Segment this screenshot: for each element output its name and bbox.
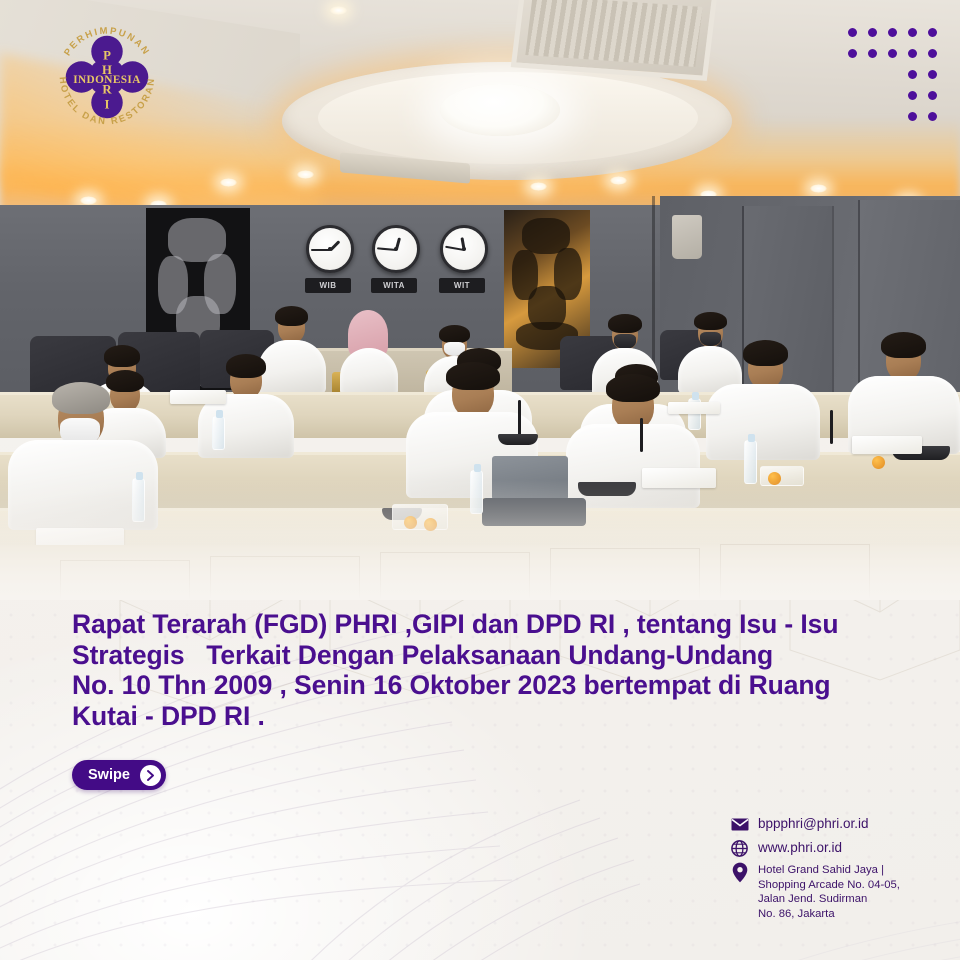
clock-label-wita: WITA [371, 278, 417, 293]
logo-letter-p: P [103, 48, 111, 62]
globe-icon [730, 839, 749, 858]
poster-canvas: WIB WITA WIT [0, 0, 960, 960]
contact-email: bppphri@phri.or.id [758, 815, 869, 832]
envelope-icon [730, 815, 749, 834]
contact-website-row[interactable]: www.phri.or.id [730, 839, 950, 858]
wall-clock-wib [306, 225, 354, 273]
water-bottle [744, 440, 757, 484]
wall-clock-wita [372, 225, 420, 273]
swipe-label: Swipe [88, 767, 130, 783]
event-title: Rapat Terarah (FGD) PHRI ,GIPI dan DPD R… [72, 609, 902, 731]
clock-label-wit: WIT [439, 278, 485, 293]
map-pin-icon [730, 863, 749, 882]
contact-address-row: Hotel Grand Sahid Jaya | Shopping Arcade… [730, 863, 950, 921]
contact-address: Hotel Grand Sahid Jaya | Shopping Arcade… [758, 863, 900, 921]
logo-letter-i: I [105, 97, 110, 111]
contact-website: www.phri.or.id [758, 839, 842, 856]
contact-block: bppphri@phri.or.id www.phri.or.id [730, 815, 950, 926]
wall-speaker [672, 215, 702, 259]
contact-email-row[interactable]: bppphri@phri.or.id [730, 815, 950, 834]
water-bottle [212, 416, 225, 450]
dot-grid-decoration [842, 22, 942, 127]
wall-clock-wit [440, 225, 488, 273]
clock-label-wib: WIB [305, 278, 351, 293]
logo-indonesia: INDONESIA [73, 74, 141, 86]
swipe-button[interactable]: Swipe [72, 760, 166, 790]
phri-logo: P H R I INDONESIA PERHIMPUNAN HOTEL DAN … [48, 18, 166, 136]
chevron-right-icon [140, 765, 161, 786]
